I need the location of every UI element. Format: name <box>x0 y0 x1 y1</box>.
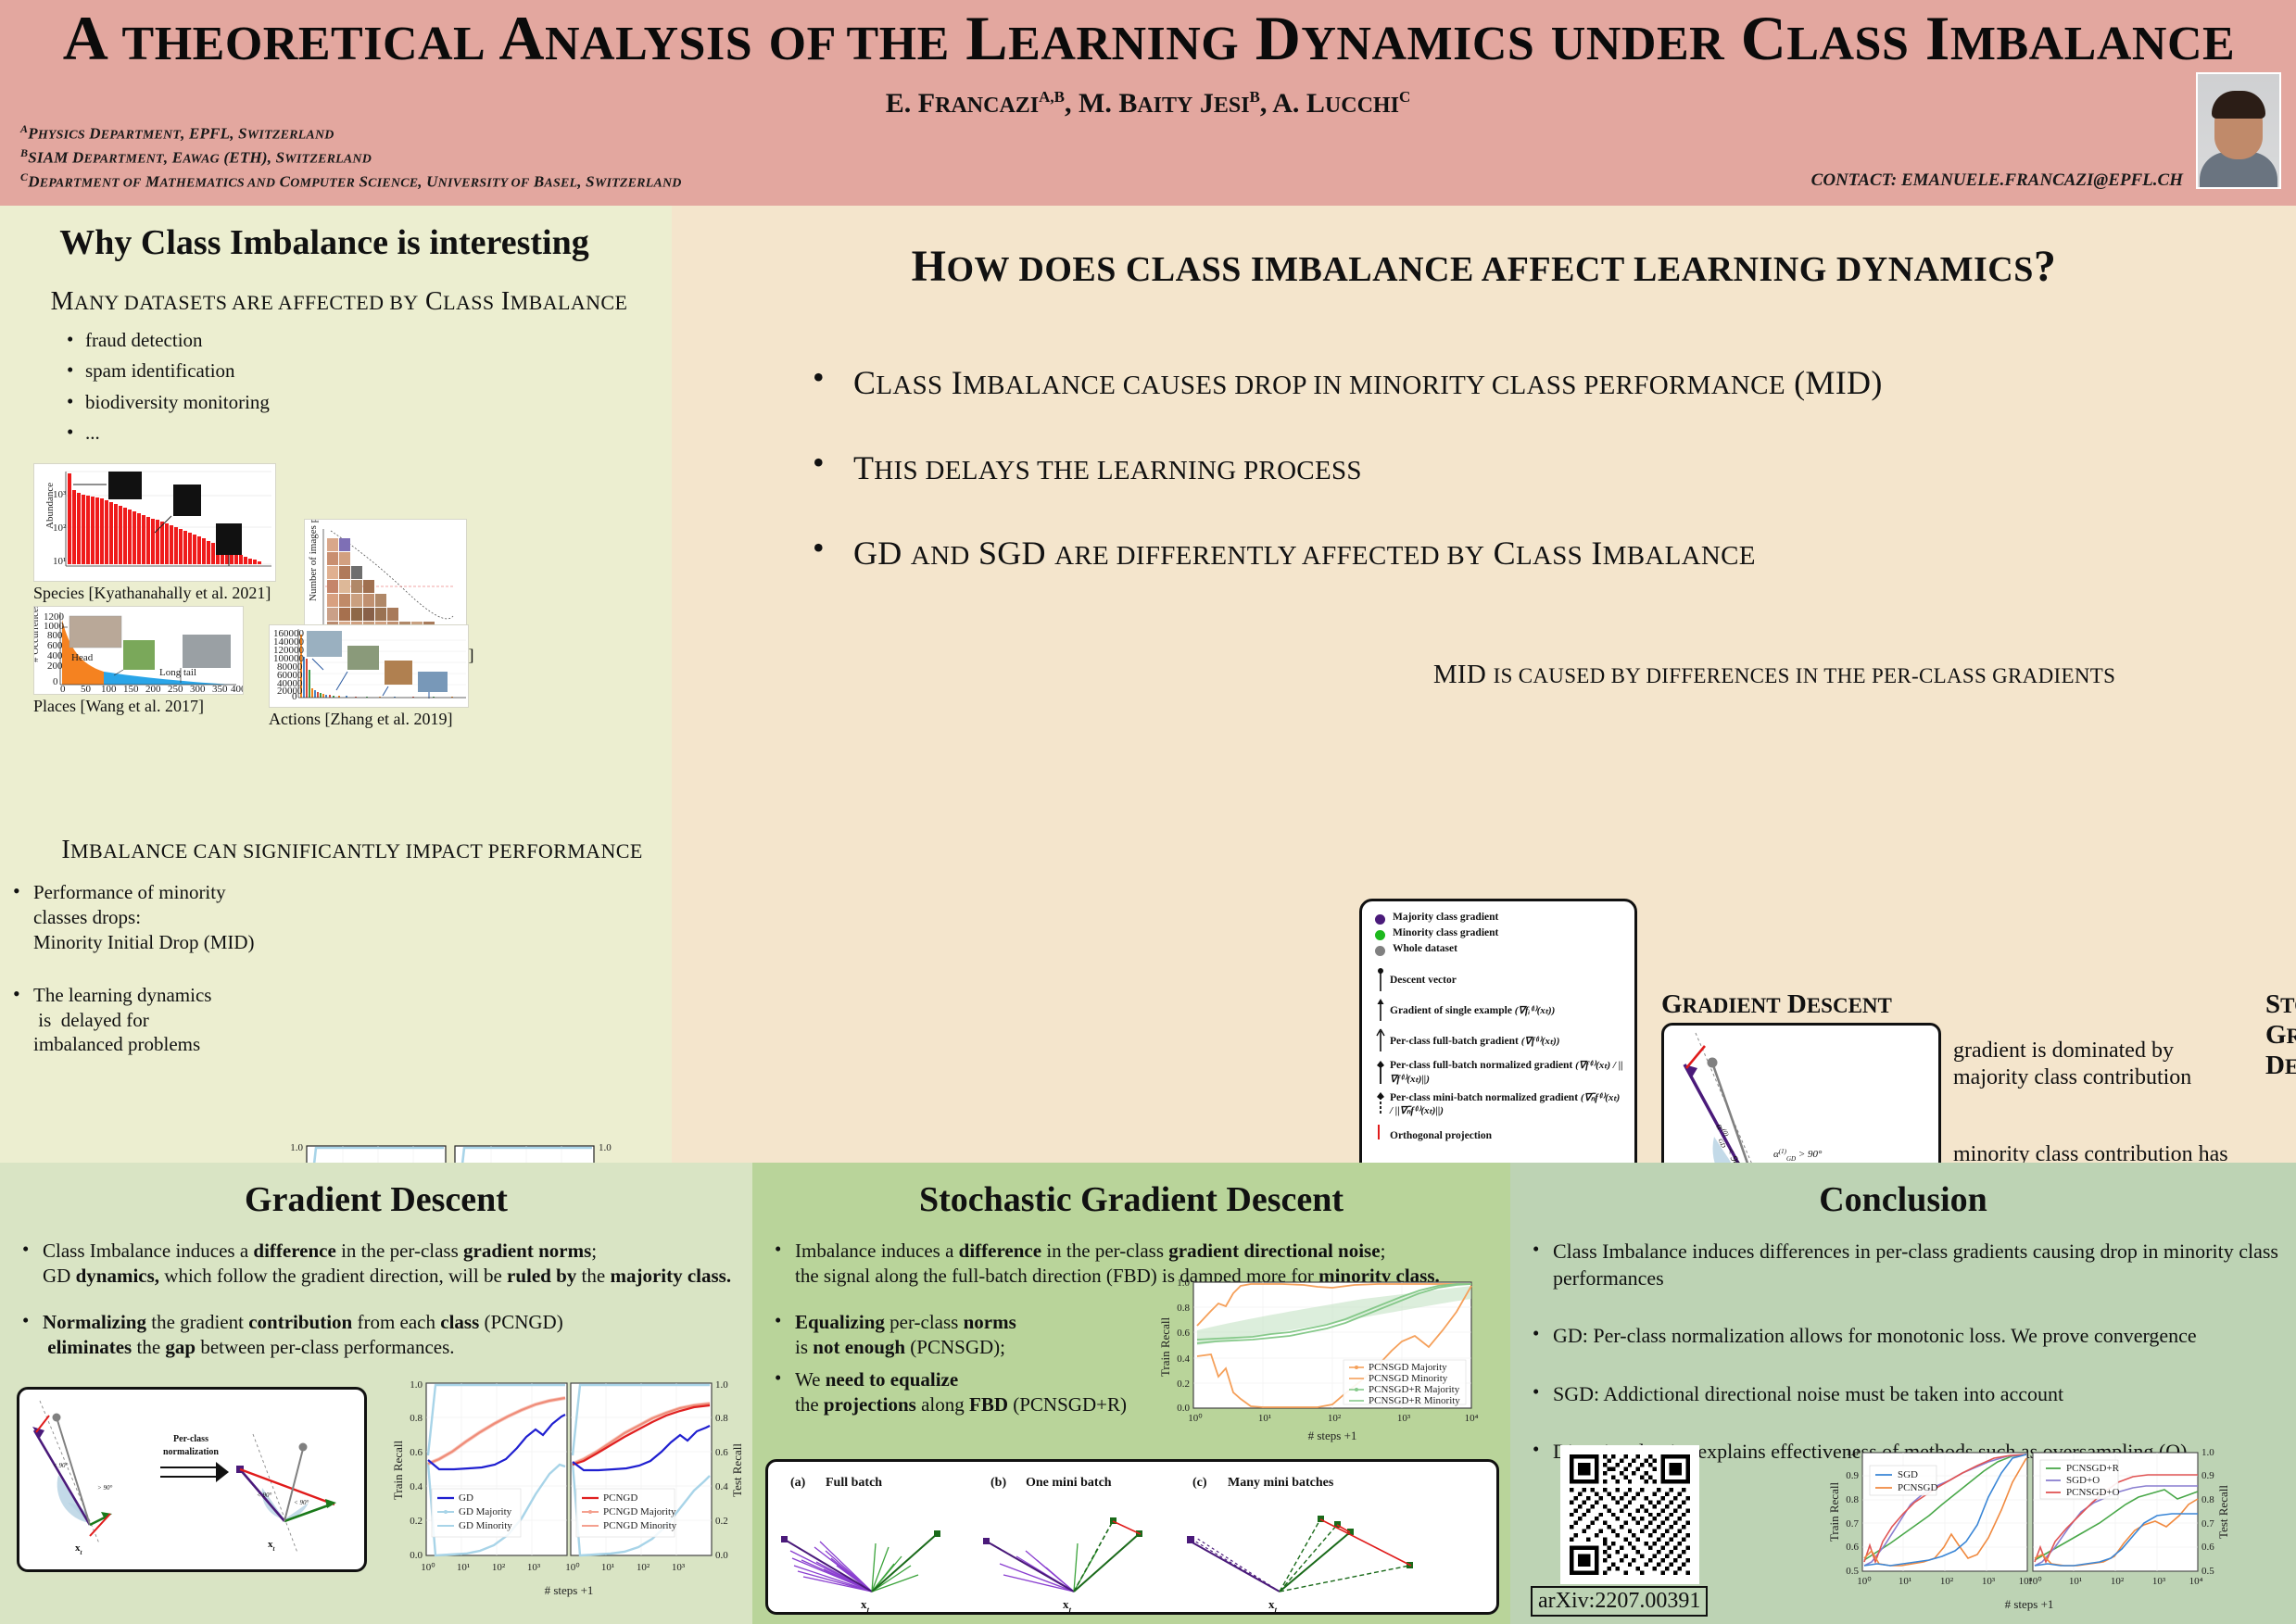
contact-email[interactable]: CONTACT: EMANUELE.FRANCAZI@EPFL.CH <box>1811 167 2183 191</box>
svg-text:10³: 10³ <box>527 1562 541 1573</box>
gd-bullet-list: Class Imbalance induces a difference in … <box>0 1220 752 1360</box>
svg-text:Train Recall: Train Recall <box>1158 1317 1172 1378</box>
single-example-gradient-icon <box>1373 998 1390 1024</box>
svg-text:10²: 10² <box>492 1562 506 1573</box>
svg-text:0.9: 0.9 <box>2201 1470 2214 1481</box>
chart-conclusion-recall: SGD PCNSGD 1.00.90.8 0.70.60.5 10⁰10¹10²… <box>1812 1445 2248 1624</box>
svg-text:10⁴: 10⁴ <box>1465 1413 1479 1424</box>
svg-text:0.4: 0.4 <box>1177 1353 1190 1365</box>
chart-pcnsgd-recall: PCNSGD Majority PCNSGD Minority PCNSGD+R… <box>1142 1275 1494 1455</box>
gd-description-1: gradient is dominated bymajority class c… <box>1953 1038 2191 1092</box>
svg-text:10⁴: 10⁴ <box>2189 1576 2203 1587</box>
svg-text:PCNSGD+R Minority: PCNSGD+R Minority <box>1369 1395 1460 1406</box>
svg-text:SGD+O: SGD+O <box>2066 1475 2100 1486</box>
figure-caption: Species [Kyathanahally et al. 2021] <box>33 584 276 603</box>
svg-text:10³: 10³ <box>53 489 67 500</box>
per-class-normalization-diagram: < 90° > 90° xt Per-class normalization <… <box>17 1387 367 1572</box>
legend-item: Minority class gradient <box>1373 926 1623 940</box>
figure-caption: Places [Wang et al. 2017] <box>33 697 244 716</box>
figure-places: Head Long tail 12001000800 6004002000 05… <box>33 606 244 716</box>
species-bar-chart: Abundance 10³ 10² 10¹ <box>34 464 276 582</box>
svg-text:10⁰: 10⁰ <box>1188 1413 1203 1424</box>
svg-text:0.8: 0.8 <box>1846 1494 1859 1505</box>
svg-text:300: 300 <box>190 684 206 695</box>
section-title: Stochastic Gradient Descent <box>752 1163 1510 1220</box>
descent-vector-icon <box>1373 967 1390 993</box>
mid-subheading: MID IS CAUSED BY DIFFERENCES IN THE PER-… <box>1283 660 2265 690</box>
svg-text:Per-class: Per-class <box>173 1434 208 1444</box>
legend-formula: (∇fᵢ⁽ˡ⁾(xₜ)) <box>1515 1005 1556 1016</box>
svg-text:1.0: 1.0 <box>290 1142 303 1153</box>
mid-column: HOW DOES CLASS IMBALANCE AFFECT LEARNING… <box>672 206 2296 1163</box>
legend-formula: (∇f⁽ˡ⁾(xₜ)) <box>1521 1036 1560 1047</box>
legend-label: Descent vector <box>1390 974 1457 987</box>
gradient-legend-box: Majority class gradient Minority class g… <box>1359 899 1637 1178</box>
svg-text:0.4: 0.4 <box>715 1481 728 1492</box>
legend-label: Gradient of single example (∇fᵢ⁽ˡ⁾(xₜ)) <box>1390 1004 1555 1018</box>
perclass-fullbatch-gradient-icon <box>1373 1028 1390 1054</box>
svg-text:< 90°: < 90° <box>257 1492 271 1499</box>
author-photo <box>2196 72 2281 189</box>
svg-text:10²: 10² <box>1328 1413 1342 1424</box>
svg-text:10²: 10² <box>637 1562 650 1573</box>
svg-text:1.0: 1.0 <box>715 1379 728 1391</box>
list-item: The learning dynamics is delayed forimba… <box>11 983 280 1058</box>
svg-text:0: 0 <box>53 676 58 687</box>
page-title: A THEORETICAL ANALYSIS OF THE LEARNING D… <box>19 2 2279 75</box>
svg-text:400: 400 <box>231 684 244 695</box>
application-list: fraud detection spam identification biod… <box>65 328 639 451</box>
svg-text:10²: 10² <box>53 522 67 534</box>
list-item: Normalizing the gradient contribution fr… <box>19 1310 736 1361</box>
legend-item: Majority class gradient <box>1373 911 1623 925</box>
minority-dot-icon <box>1375 930 1385 940</box>
gd-diagram-title: GRADIENT DESCENT <box>1661 989 1892 1020</box>
svg-text:1.0: 1.0 <box>410 1379 423 1391</box>
figure-caption: Actions [Zhang et al. 2019] <box>269 710 469 729</box>
perclass-minibatch-normalized-icon <box>1373 1091 1390 1117</box>
svg-text:10⁰: 10⁰ <box>1857 1576 1872 1587</box>
svg-text:1.0: 1.0 <box>2201 1447 2214 1458</box>
svg-text:10³: 10³ <box>1397 1413 1411 1424</box>
left-heading: Why Class Imbalance is interesting <box>0 222 649 263</box>
chart-gd-pcngd: GD GD Majority GD Minority 1.00.80.6 0.4… <box>378 1374 745 1610</box>
svg-text:1.0: 1.0 <box>1846 1447 1859 1458</box>
svg-text:10³: 10³ <box>2152 1576 2166 1587</box>
svg-text:xt: xt <box>268 1539 276 1553</box>
gd-pcngd-twin-plot: GD GD Majority GD Minority 1.00.80.6 0.4… <box>378 1374 745 1605</box>
svg-text:0: 0 <box>60 684 66 695</box>
svg-text:Head: Head <box>71 652 94 663</box>
svg-text:50: 50 <box>81 684 92 695</box>
list-item: biodiversity monitoring <box>65 390 639 415</box>
svg-text:1.0: 1.0 <box>1177 1278 1190 1289</box>
x-axis-label: # steps +1 <box>1308 1429 1357 1442</box>
svg-text:10¹: 10¹ <box>1899 1576 1911 1587</box>
qr-code[interactable] <box>1560 1445 1699 1584</box>
svg-text:0.6: 0.6 <box>1846 1542 1859 1553</box>
svg-text:< 90°: < 90° <box>53 1462 68 1469</box>
x-axis-label: # steps +1 <box>545 1583 594 1597</box>
svg-text:10⁰: 10⁰ <box>2027 1576 2042 1587</box>
dataset-dot-icon <box>1375 946 1385 956</box>
list-item: THIS DELAYS THE LEARNING PROCESS <box>813 448 2202 487</box>
legend-item: Whole dataset <box>1373 942 1623 956</box>
mid-bullet-list: CLASS IMBALANCE CAUSES DROP IN MINORITY … <box>813 363 2202 619</box>
svg-text:0.0: 0.0 <box>410 1550 423 1561</box>
svg-text:PCNSGD: PCNSGD <box>1898 1482 1937 1493</box>
pcnsgd-train-plot: PCNSGD Majority PCNSGD Minority PCNSGD+R… <box>1142 1275 1494 1451</box>
places-distribution-chart: Head Long tail 12001000800 6004002000 05… <box>34 607 244 695</box>
svg-text:0.2: 0.2 <box>410 1516 423 1527</box>
figure-actions: 160000140000120000 1000008000060000 4000… <box>269 624 469 729</box>
svg-text:0.4: 0.4 <box>410 1481 423 1492</box>
svg-text:10³: 10³ <box>672 1562 686 1573</box>
svg-text:PCNGD: PCNGD <box>603 1492 637 1504</box>
svg-text:10¹: 10¹ <box>53 556 66 567</box>
list-item: GD: Per-class normalization allows for m… <box>1529 1323 2279 1350</box>
svg-text:PCNSGD+R: PCNSGD+R <box>2066 1463 2120 1474</box>
perclass-fullbatch-normalized-icon <box>1373 1060 1390 1086</box>
svg-text:10¹: 10¹ <box>2069 1576 2082 1587</box>
section-title: Gradient Descent <box>0 1163 752 1220</box>
legend-label: Per-class full-batch normalized gradient… <box>1390 1059 1623 1087</box>
svg-text:Long tail: Long tail <box>159 667 196 678</box>
svg-text:10⁰: 10⁰ <box>565 1562 580 1573</box>
svg-text:Test Recall: Test Recall <box>2216 1485 2230 1539</box>
x-axis-label: # steps +1 <box>2005 1597 2054 1611</box>
svg-text:GD Majority: GD Majority <box>459 1506 512 1517</box>
section-title: Conclusion <box>1510 1163 2296 1220</box>
svg-text:10⁰: 10⁰ <box>421 1562 435 1573</box>
svg-text:0.7: 0.7 <box>1846 1518 1859 1530</box>
svg-text:SGD: SGD <box>1898 1469 1918 1480</box>
sgd-diagram-title: STOCHASTIC GRADIENT DESCENT <box>2265 989 2296 1081</box>
list-item: Class Imbalance induces a difference in … <box>19 1239 736 1290</box>
affiliation-2: BSIAM DEPARTMENT, EAWAG (ETH), SWITZERLA… <box>20 146 372 168</box>
left-subheading-1: MANY DATASETS ARE AFFECTED BY CLASS IMBA… <box>33 287 645 317</box>
svg-text:xt: xt <box>861 1597 870 1612</box>
svg-text:10³: 10³ <box>1982 1576 1996 1587</box>
left-column: Why Class Imbalance is interesting MANY … <box>0 206 672 1163</box>
performance-bullets: Performance of minority classes drops:Mi… <box>11 880 280 1085</box>
svg-text:0.5: 0.5 <box>2201 1566 2214 1577</box>
svg-text:PCNGD Minority: PCNGD Minority <box>603 1520 677 1531</box>
svg-text:0.8: 0.8 <box>1177 1303 1190 1314</box>
legend-label: Majority class gradient <box>1393 911 1498 924</box>
svg-text:200: 200 <box>47 661 63 672</box>
svg-text:Number of images per person: Number of images per person <box>308 520 319 601</box>
list-item: spam identification <box>65 359 639 384</box>
svg-text:20000: 20000 <box>277 686 303 697</box>
list-item: SGD: Addictional directional noise must … <box>1529 1381 2279 1408</box>
affiliation-3: CDEPARTMENT OF MATHEMATICS AND COMPUTER … <box>20 170 682 192</box>
poster-root: A THEORETICAL ANALYSIS OF THE LEARNING D… <box>0 0 2296 1624</box>
svg-text:PCNGD Majority: PCNGD Majority <box>603 1506 676 1517</box>
majority-dot-icon <box>1375 914 1385 925</box>
panel-tag: (a) <box>790 1476 806 1490</box>
panel-label: One mini batch <box>1026 1476 1112 1490</box>
legend-label: Minority class gradient <box>1393 926 1498 939</box>
list-item: Performance of minority classes drops:Mi… <box>11 880 280 955</box>
svg-text:α(1)GD > 90°: α(1)GD > 90° <box>1773 1148 1823 1163</box>
svg-text:200: 200 <box>145 684 161 695</box>
svg-text:0.6: 0.6 <box>715 1447 728 1458</box>
svg-text:xt: xt <box>75 1542 83 1556</box>
svg-text:150: 150 <box>123 684 139 695</box>
panel-tag: (c) <box>1192 1476 1207 1490</box>
svg-text:xt: xt <box>1268 1597 1278 1612</box>
svg-text:0: 0 <box>292 691 297 702</box>
figure-species: Abundance 10³ 10² 10¹ Species [Kyathanah… <box>33 463 276 603</box>
svg-text:10¹: 10¹ <box>1258 1413 1271 1424</box>
svg-text:0.9: 0.9 <box>1846 1470 1859 1481</box>
conclusion-twin-plot: SGD PCNSGD 1.00.90.8 0.70.60.5 10⁰10¹10²… <box>1812 1445 2248 1619</box>
svg-text:Test Recall: Test Recall <box>730 1443 744 1497</box>
svg-text:250: 250 <box>168 684 183 695</box>
minibatch-illustration: (a) Full batch xt (b) <box>765 1459 1499 1615</box>
svg-text:0.6: 0.6 <box>2201 1542 2214 1553</box>
svg-text:10²: 10² <box>1940 1576 1954 1587</box>
svg-text:0.2: 0.2 <box>1177 1379 1190 1390</box>
legend-label: Per-class mini-batch normalized gradient… <box>1390 1091 1623 1119</box>
svg-text:PCNSGD Majority: PCNSGD Majority <box>1369 1362 1447 1373</box>
svg-text:0.8: 0.8 <box>410 1413 423 1424</box>
svg-text:PCNSGD Minority: PCNSGD Minority <box>1369 1373 1448 1384</box>
svg-text:PCNSGD+R Majority: PCNSGD+R Majority <box>1369 1384 1460 1395</box>
svg-text:10¹: 10¹ <box>601 1562 614 1573</box>
svg-text:GD Minority: GD Minority <box>459 1520 512 1531</box>
svg-text:< 90°: < 90° <box>294 1499 309 1506</box>
svg-text:10²: 10² <box>2111 1576 2125 1587</box>
list-item: CLASS IMBALANCE CAUSES DROP IN MINORITY … <box>813 363 2202 402</box>
panel-label: Full batch <box>826 1476 882 1490</box>
legend-label: Per-class full-batch gradient (∇f⁽ˡ⁾(xₜ)… <box>1390 1035 1559 1049</box>
arxiv-id[interactable]: arXiv:2207.00391 <box>1531 1586 1708 1617</box>
svg-text:xt: xt <box>1063 1597 1072 1612</box>
svg-text:> 90°: > 90° <box>97 1484 112 1492</box>
svg-text:100: 100 <box>101 684 117 695</box>
svg-text:normalization: normalization <box>163 1447 219 1457</box>
list-item: Class Imbalance induces differences in p… <box>1529 1239 2279 1291</box>
panel-tag: (b) <box>990 1476 1006 1490</box>
poster-header: A THEORETICAL ANALYSIS OF THE LEARNING D… <box>0 0 2296 206</box>
legend-label: Orthogonal projection <box>1390 1129 1492 1142</box>
author-list: E. FRANCAZIA,B, M. BAITY JESIB, A. LUCCH… <box>0 88 2296 120</box>
svg-text:0.2: 0.2 <box>715 1516 728 1527</box>
svg-text:GD: GD <box>459 1492 473 1504</box>
svg-text:10¹: 10¹ <box>457 1562 470 1573</box>
legend-label: Whole dataset <box>1393 942 1457 955</box>
actions-distribution-chart: 160000140000120000 1000008000060000 4000… <box>270 625 469 708</box>
conclusion-bullet-list: Class Imbalance induces differences in p… <box>1510 1220 2296 1466</box>
svg-text:0.8: 0.8 <box>2201 1494 2214 1505</box>
affiliation-1: APHYSICS DEPARTMENT, EPFL, SWITZERLAND <box>20 122 334 144</box>
svg-text:350: 350 <box>212 684 228 695</box>
svg-text:Train Recall: Train Recall <box>1827 1482 1841 1542</box>
svg-text:Train Recall: Train Recall <box>391 1441 405 1501</box>
list-item: ... <box>65 421 639 446</box>
svg-text:1.0: 1.0 <box>599 1142 612 1153</box>
orthogonal-projection-icon <box>1373 1123 1390 1149</box>
svg-text:0.6: 0.6 <box>410 1447 423 1458</box>
svg-text:0.6: 0.6 <box>1177 1328 1190 1339</box>
list-item: GD AND SGD ARE DIFFERENTLY AFFECTED BY C… <box>813 534 2202 573</box>
svg-text:0.0: 0.0 <box>715 1550 728 1561</box>
svg-text:# Occurrences: # Occurrences <box>34 607 41 662</box>
mid-heading: HOW DOES CLASS IMBALANCE AFFECT LEARNING… <box>672 241 2296 292</box>
list-item: fraud detection <box>65 328 639 353</box>
svg-text:0.8: 0.8 <box>715 1413 728 1424</box>
left-subheading-2: IMBALANCE CAN SIGNIFICANTLY IMPACT PERFO… <box>37 836 667 865</box>
svg-text:0.7: 0.7 <box>2201 1518 2214 1530</box>
panel-label: Many mini batches <box>1228 1476 1334 1490</box>
svg-text:PCNSGD+O: PCNSGD+O <box>2066 1487 2120 1498</box>
